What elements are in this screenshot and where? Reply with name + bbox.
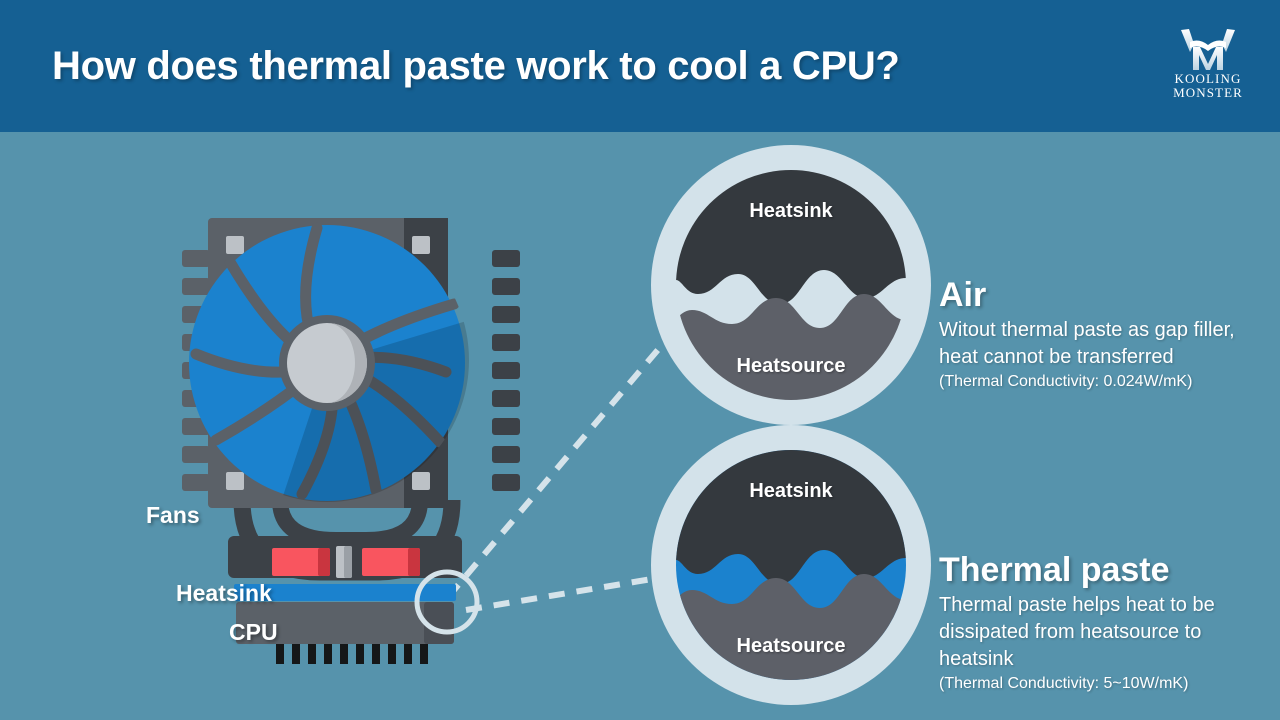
- page-header: How does thermal paste work to cool a CP…: [0, 0, 1280, 132]
- label-heatsink: Heatsink: [176, 580, 272, 607]
- screw-bottom-left: [226, 472, 244, 490]
- info-air-heading: Air: [939, 275, 1269, 315]
- heatsink-shape-paste: [676, 450, 906, 584]
- info-block-air: Air Witout thermal paste as gap filler, …: [939, 275, 1269, 392]
- info-air-body: Witout thermal paste as gap filler, heat…: [939, 317, 1269, 371]
- page-title: How does thermal paste work to cool a CP…: [52, 44, 900, 89]
- kooling-monster-logo-icon: [1177, 28, 1239, 72]
- magnifier-air-top-label: Heatsink: [651, 200, 931, 223]
- heatsink-shape-air: [676, 170, 906, 304]
- magnifier-air: Heatsink Heatsource: [651, 145, 931, 425]
- magnifier-paste-top-label: Heatsink: [651, 480, 931, 503]
- info-paste-body: Thermal paste helps heat to be dissipate…: [939, 592, 1269, 673]
- heatsink-fins-right: [492, 250, 520, 491]
- screw-bottom-right: [412, 472, 430, 490]
- screw-top-right: [412, 236, 430, 254]
- label-cpu: CPU: [229, 619, 278, 646]
- info-block-thermal-paste: Thermal paste Thermal paste helps heat t…: [939, 550, 1269, 694]
- magnifier-thermal-paste: Heatsink Heatsource: [651, 425, 931, 705]
- logo-text-line1: KOOLING: [1175, 72, 1242, 86]
- info-air-note: (Thermal Conductivity: 0.024W/mK): [939, 372, 1269, 392]
- brand-logo: KOOLING MONSTER: [1160, 28, 1256, 110]
- mounting-blocks: [272, 546, 420, 578]
- magnifier-paste-bottom-label: Heatsource: [651, 635, 931, 658]
- info-paste-note: (Thermal Conductivity: 5~10W/mK): [939, 674, 1269, 694]
- cpu-pins: [276, 644, 428, 664]
- info-paste-heading: Thermal paste: [939, 550, 1269, 590]
- logo-text-line2: MONSTER: [1173, 86, 1243, 100]
- screw-top-left: [226, 236, 244, 254]
- label-fans: Fans: [146, 502, 200, 529]
- magnifier-air-bottom-label: Heatsource: [651, 355, 931, 378]
